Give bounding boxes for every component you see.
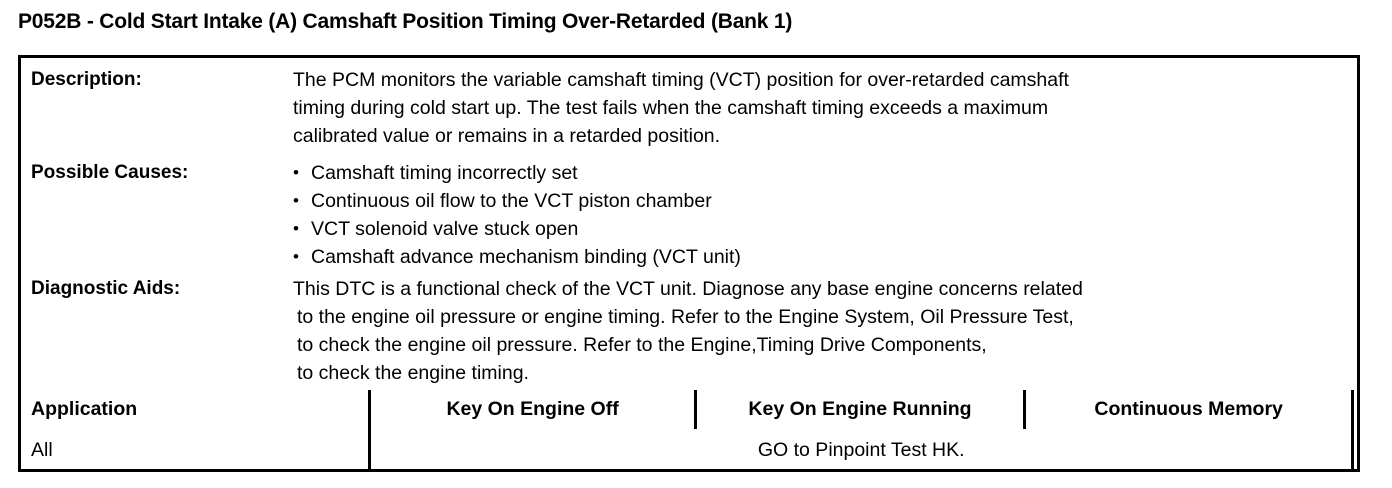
diagnostic-aids-line: This DTC is a functional check of the VC… (293, 275, 1357, 303)
info-row-possible-causes: Possible Causes: Camshaft timing incorre… (21, 159, 1357, 271)
diagnostic-aids-line: to check the engine timing. (293, 359, 1357, 387)
diagnostic-aids-line: to the engine oil pressure or engine tim… (293, 303, 1357, 331)
list-item: Camshaft advance mechanism binding (VCT … (293, 243, 1357, 271)
column-header-key-on-engine-off: Key On Engine Off (370, 390, 695, 429)
list-item: Continuous oil flow to the VCT piston ch… (293, 187, 1357, 215)
dtc-document-page: P052B - Cold Start Intake (A) Camshaft P… (0, 0, 1392, 488)
list-item: VCT solenoid valve stuck open (293, 215, 1357, 243)
results-table: Application Key On Engine Off Key On Eng… (18, 390, 1354, 472)
possible-causes-list: Camshaft timing incorrectly set Continuo… (293, 159, 1357, 271)
description-body: The PCM monitors the variable camshaft t… (293, 66, 1357, 150)
page-title: P052B - Cold Start Intake (A) Camshaft P… (18, 10, 792, 34)
description-line: The PCM monitors the variable camshaft t… (293, 66, 1357, 94)
description-label: Description: (21, 66, 293, 94)
dtc-detail-frame: Description: The PCM monitors the variab… (18, 55, 1360, 472)
cell-application: All (20, 429, 370, 472)
diagnostic-aids-body: This DTC is a functional check of the VC… (293, 275, 1357, 387)
cell-test-result: GO to Pinpoint Test HK. (370, 429, 1353, 472)
possible-causes-body: Camshaft timing incorrectly set Continuo… (293, 159, 1357, 271)
column-header-key-on-engine-running: Key On Engine Running (695, 390, 1025, 429)
info-row-description: Description: The PCM monitors the variab… (21, 66, 1357, 150)
info-row-diagnostic-aids: Diagnostic Aids: This DTC is a functiona… (21, 275, 1357, 387)
diagnostic-aids-label: Diagnostic Aids: (21, 275, 293, 303)
list-item: Camshaft timing incorrectly set (293, 159, 1357, 187)
column-header-continuous-memory: Continuous Memory (1025, 390, 1353, 429)
description-line: timing during cold start up. The test fa… (293, 94, 1357, 122)
description-line: calibrated value or remains in a retarde… (293, 122, 1357, 150)
table-row: All GO to Pinpoint Test HK. (20, 429, 1353, 472)
diagnostic-aids-line: to check the engine oil pressure. Refer … (293, 331, 1357, 359)
table-header-row: Application Key On Engine Off Key On Eng… (20, 390, 1353, 429)
column-header-application: Application (20, 390, 370, 429)
info-section: Description: The PCM monitors the variab… (21, 58, 1357, 396)
possible-causes-label: Possible Causes: (21, 159, 293, 187)
